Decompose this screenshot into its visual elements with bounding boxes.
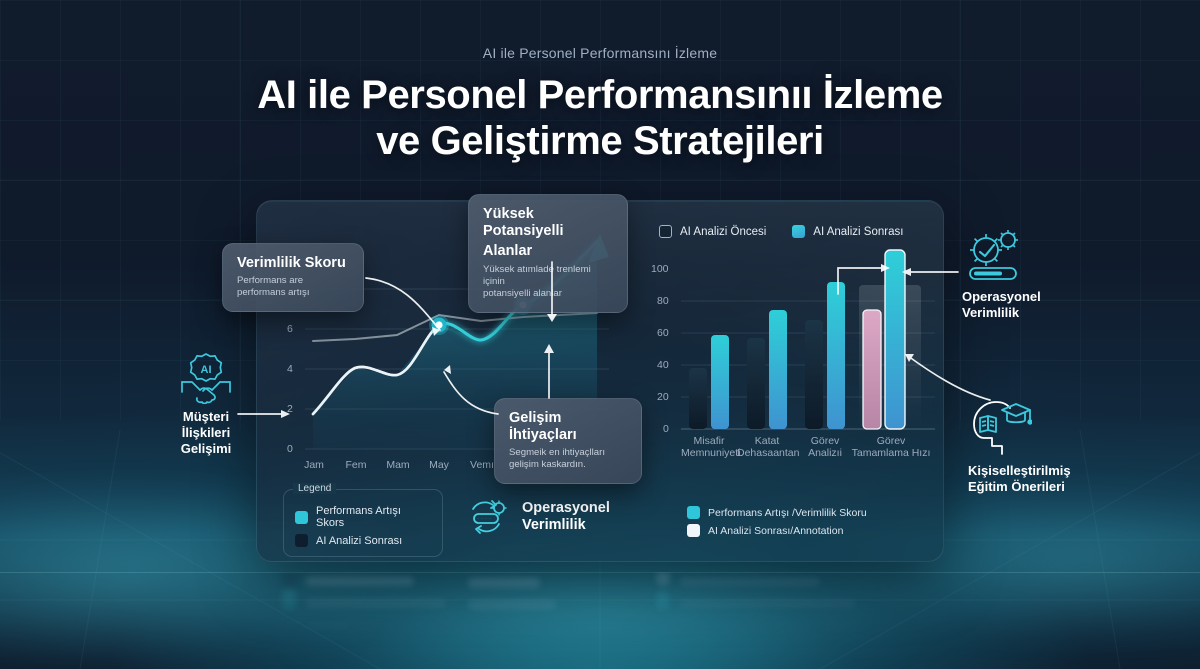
bar-x-label-line1: Görev — [797, 435, 853, 447]
legend-label-performance: Performans Artışı Skors — [316, 505, 431, 529]
bar-y-tick: 20 — [657, 391, 669, 403]
side-label-text: Müşteri İlişkileri Gelişimi — [158, 409, 254, 457]
page-title: AI ile Personel Performansınıı İzleme ve… — [0, 72, 1200, 164]
page-title-line-2: ve Geliştirme Stratejileri — [0, 118, 1200, 164]
bar-chart-bottom-legend: Performans Artışı /Verimlilik Skoru AI A… — [687, 501, 867, 537]
bar-y-tick: 60 — [657, 327, 669, 339]
poster-canvas: AI ile Personel Performansını İzleme AI … — [0, 0, 1200, 669]
legend-swatch-performance-score — [687, 506, 700, 519]
bar-y-tick: 80 — [657, 295, 669, 307]
operational-badge-line1: Operasyonel — [522, 500, 610, 517]
side-label-line1: Operasyonel — [962, 289, 1090, 305]
annotation-body-line1: Yüksek atımlade trenlemi içinin — [483, 264, 613, 288]
bar-x-label-line1: Görev — [851, 435, 931, 447]
annotation-card-yuksek-potansiyelli-alanlar: Yüksek Potansiyelli Alanlar Yüksek atıml… — [468, 194, 628, 313]
annotation-body-line1: Segmeik en ihtiyaçlları — [509, 447, 627, 459]
bar-x-label: Görev Analizıi — [797, 435, 853, 459]
bar-y-tick: 0 — [663, 423, 669, 435]
legend-swatch-after — [295, 534, 308, 547]
refresh-gear-icon — [465, 497, 511, 537]
annotation-title-line2: Alanlar — [483, 243, 613, 260]
annotation-title: Verimlilik Skoru — [237, 255, 349, 272]
bar-x-label-line2: Analizıi — [797, 447, 853, 459]
side-label-text: Kişiselleştirilmiş Eğitim Önerileri — [968, 463, 1108, 495]
legend-row[interactable]: Performans Artışı Skors — [295, 505, 431, 529]
line-y-tick: 4 — [287, 363, 293, 375]
side-label-line1: Müşteri — [158, 409, 254, 425]
bar-x-label: Misafir Memnuniyeti — [681, 435, 737, 459]
bar-x-label: Katat Dehasaantan — [737, 435, 797, 459]
bar-after-highlight — [885, 250, 905, 429]
bar-before — [689, 368, 707, 429]
bar-x-label-line1: Misafir — [681, 435, 737, 447]
line-x-tick: Mam — [382, 459, 414, 471]
eyebrow-text: AI ile Personel Performansını İzleme — [0, 45, 1200, 61]
side-label-line2: Eğitim Önerileri — [968, 479, 1108, 495]
side-label-kisisellestirilmis-egitim: Kişiselleştirilmiş Eğitim Önerileri — [968, 398, 1108, 495]
annotation-body-line2: gelişim kaskardın. — [509, 459, 627, 471]
bar-after — [769, 310, 787, 429]
bar-y-tick: 40 — [657, 359, 669, 371]
gauge-gears-icon — [962, 228, 1028, 284]
legend-row[interactable]: AI Analizi Sonrası — [295, 534, 431, 547]
legend-label-annotation: AI Analizi Sonrası/Annotation — [708, 525, 843, 537]
annotation-body-line1: Performans are — [237, 275, 349, 287]
legend-label-after: AI Analizi Sonrası — [316, 535, 402, 547]
annotation-card-gelisim-ihtiyaclari: Gelişim İhtiyaçları Segmeik en ihtiyaçll… — [494, 398, 642, 484]
legend-swatch-performance — [295, 511, 308, 524]
side-label-line2: Verimlilik — [962, 305, 1090, 321]
bar-before-highlight — [863, 310, 881, 429]
line-y-tick: 6 — [287, 323, 293, 335]
panel-reflection — [256, 572, 944, 664]
ai-handshake-icon: AI — [176, 352, 236, 404]
annotation-title: Gelişim İhtiyaçları — [509, 410, 627, 444]
line-x-tick: Jam — [299, 459, 329, 471]
bar-x-label-line2: Memnuniyeti — [681, 447, 737, 459]
legend-row[interactable]: AI Analizi Sonrası/Annotation — [687, 524, 867, 537]
bar-before — [747, 338, 765, 429]
page-title-line-1: AI ile Personel Performansınıı İzleme — [0, 72, 1200, 118]
legend-swatch-annotation — [687, 524, 700, 537]
line-y-tick: 0 — [287, 443, 293, 455]
legend-row[interactable]: Performans Artışı /Verimlilik Skoru — [687, 506, 867, 519]
annotation-body-line2: performans artışı — [237, 287, 349, 299]
operational-badge-line2: Verimlilik — [522, 517, 610, 534]
side-label-line2: İlişkileri — [158, 425, 254, 441]
svg-text:AI: AI — [201, 364, 212, 376]
side-label-line3: Gelişimi — [158, 441, 254, 457]
side-label-line1: Kişiselleştirilmiş — [968, 463, 1108, 479]
annotation-body-line2: potansiyelli alanlar — [483, 288, 613, 300]
operational-badge-text: Operasyonel Verimlilik — [522, 500, 610, 534]
ai-comparison-bar-chart: AI Analizi Öncesi AI Analizi Sonrası — [637, 201, 944, 491]
bar-x-label: Görev Tamamlama Hızı — [851, 435, 931, 459]
bar-after — [711, 335, 729, 429]
bar-before — [805, 320, 823, 429]
annotation-card-verimlilik-skoru: Verimlilik Skoru Performans are performa… — [222, 243, 364, 312]
bar-x-label-line2: Dehasaantan — [737, 447, 797, 459]
legend-box-title: Legend — [293, 483, 336, 494]
legend-label-performance-score: Performans Artışı /Verimlilik Skoru — [708, 507, 867, 519]
floor-horizon-line — [0, 572, 1200, 573]
head-book-graduation-icon — [968, 398, 1032, 458]
line-chart-marker — [429, 315, 449, 335]
line-x-tick: Fem — [341, 459, 371, 471]
annotation-title-line1: Yüksek Potansiyelli — [483, 206, 613, 240]
side-label-text: Operasyonel Verimlilik — [962, 289, 1090, 321]
bar-after — [827, 282, 845, 429]
bar-y-tick: 100 — [651, 263, 669, 275]
bar-x-label-line1: Katat — [737, 435, 797, 447]
side-label-musteri-iliskileri: AI Müşteri İlişkileri Gelişimi — [158, 352, 254, 457]
bar-x-label-line2: Tamamlama Hızı — [851, 447, 931, 459]
line-chart-legend-box: Legend Performans Artışı Skors AI Analiz… — [283, 489, 443, 557]
line-y-tick: 2 — [287, 403, 293, 415]
line-x-tick: May — [424, 459, 454, 471]
side-label-operasyonel-verimlilik: Operasyonel Verimlilik — [962, 228, 1090, 321]
operational-efficiency-badge: Operasyonel Verimlilik — [465, 497, 610, 537]
